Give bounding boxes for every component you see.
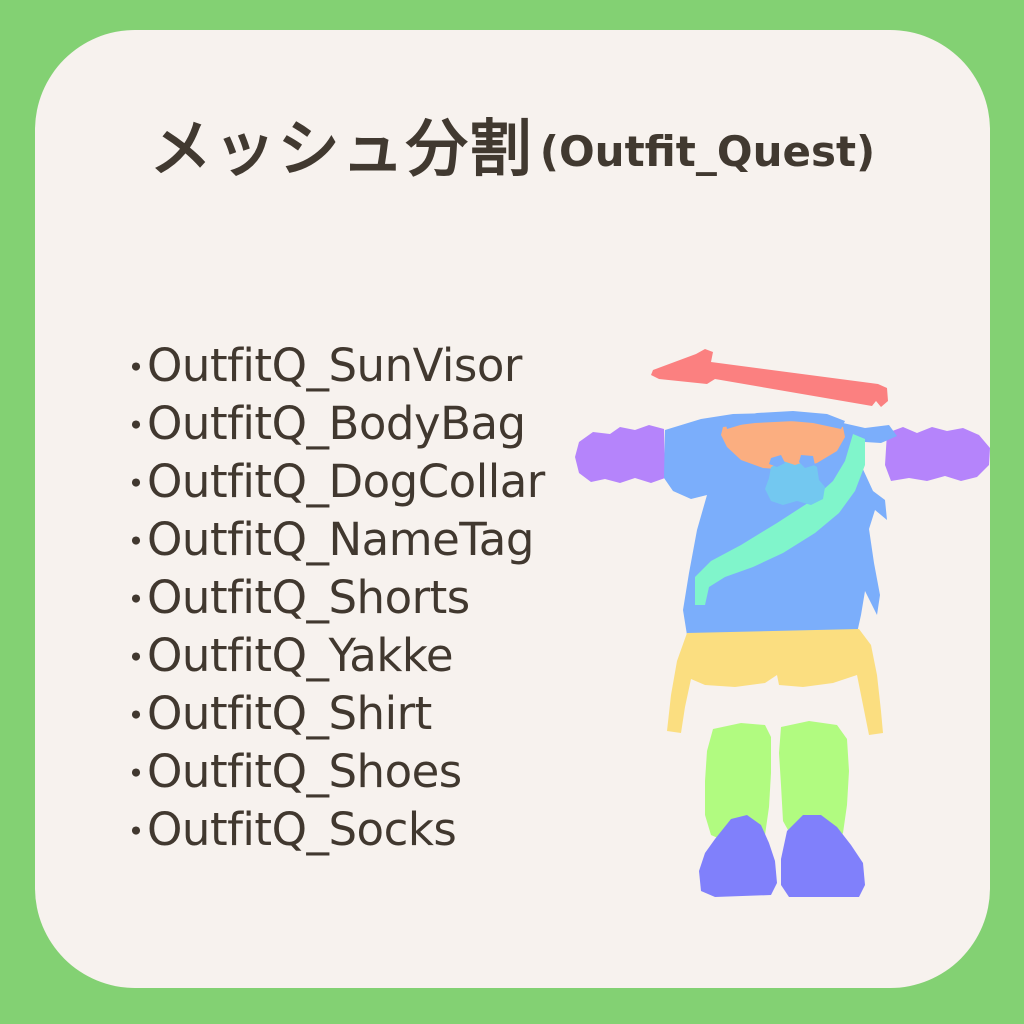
name-tag-shape (765, 461, 825, 505)
list-item: ・ OutfitQ_SunVisor (117, 338, 587, 396)
yakke-left-sleeve-shape (575, 425, 665, 483)
mesh-part-label: OutfitQ_SunVisor (147, 338, 522, 394)
sun-visor-shape (651, 349, 888, 407)
outfit-mesh-svg (565, 315, 990, 955)
list-item: ・ OutfitQ_Shirt (117, 686, 587, 744)
page-title: メッシュ分割(Outfit_Quest) (35, 118, 990, 180)
list-item: ・ OutfitQ_Shoes (117, 744, 587, 802)
list-item: ・ OutfitQ_BodyBag (117, 396, 587, 454)
shorts-shape (667, 629, 883, 735)
shoe-right-shape (781, 815, 865, 897)
bullet-icon: ・ (117, 340, 147, 396)
bullet-icon: ・ (117, 572, 147, 628)
bullet-icon: ・ (117, 688, 147, 744)
mesh-part-label: OutfitQ_Shorts (147, 570, 470, 626)
page-title-paren: (Outfit_Quest) (540, 127, 875, 176)
page-title-main: メッシュ分割 (150, 112, 534, 185)
bullet-icon: ・ (117, 514, 147, 570)
page-root: メッシュ分割(Outfit_Quest) ・ OutfitQ_SunVisor … (0, 0, 1024, 1024)
mesh-part-label: OutfitQ_DogCollar (147, 454, 545, 510)
list-item: ・ OutfitQ_Shorts (117, 570, 587, 628)
list-item: ・ OutfitQ_Socks (117, 802, 587, 860)
list-item: ・ OutfitQ_NameTag (117, 512, 587, 570)
mesh-part-label: OutfitQ_Socks (147, 802, 456, 858)
bullet-icon: ・ (117, 456, 147, 512)
bullet-icon: ・ (117, 804, 147, 860)
bullet-icon: ・ (117, 398, 147, 454)
mesh-part-label: OutfitQ_Shoes (147, 744, 462, 800)
mesh-part-list: ・ OutfitQ_SunVisor ・ OutfitQ_BodyBag ・ O… (117, 338, 587, 860)
outfit-mesh-illustration (565, 315, 990, 955)
yakke-right-sleeve-shape (885, 427, 990, 481)
content-card: メッシュ分割(Outfit_Quest) ・ OutfitQ_SunVisor … (35, 30, 990, 988)
mesh-part-label: OutfitQ_NameTag (147, 512, 534, 568)
bullet-icon: ・ (117, 746, 147, 802)
bullet-icon: ・ (117, 630, 147, 686)
list-item: ・ OutfitQ_Yakke (117, 628, 587, 686)
list-item: ・ OutfitQ_DogCollar (117, 454, 587, 512)
mesh-part-label: OutfitQ_BodyBag (147, 396, 526, 452)
mesh-part-label: OutfitQ_Shirt (147, 686, 432, 742)
mesh-part-label: OutfitQ_Yakke (147, 628, 453, 684)
